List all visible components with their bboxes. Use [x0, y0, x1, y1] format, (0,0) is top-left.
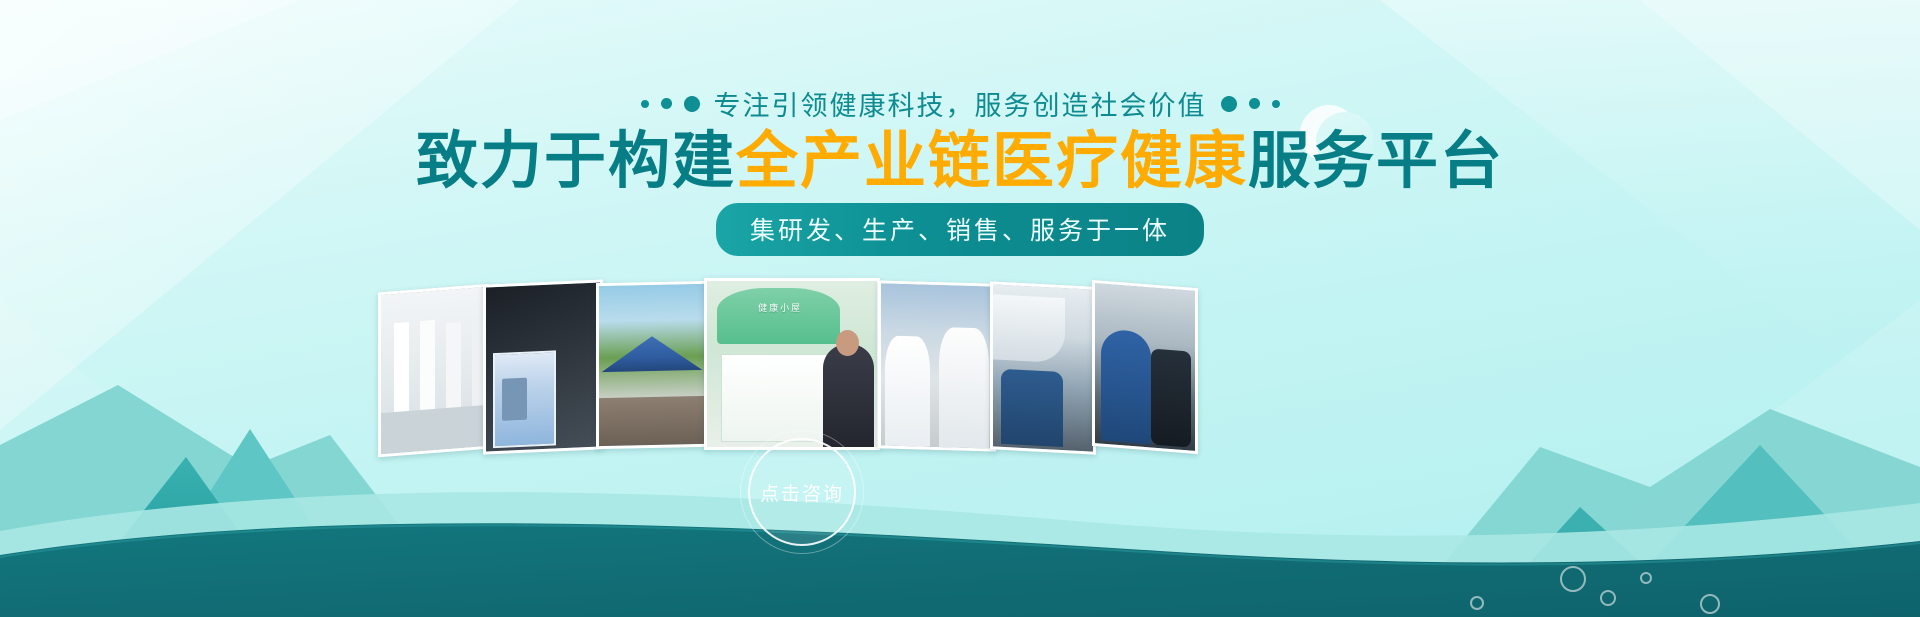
hero-banner: 专注引领健康科技，服务创造社会价值 致力于构建全产业链医疗健康服务平台 集研发、… [0, 0, 1920, 617]
dots-right [1221, 96, 1280, 112]
consult-button[interactable]: 点击咨询 [748, 438, 856, 546]
headline-part-2: 全产业链医疗健康 [736, 127, 1248, 196]
subtitle-pill-wrap: 集研发、生产、销售、服务于一体 [0, 203, 1920, 256]
dot-medium-icon [1249, 98, 1260, 109]
bubble-icon [1700, 594, 1720, 614]
dot-large-icon [1221, 96, 1237, 112]
tagline-text: 专注引领健康科技，服务创造社会价值 [714, 84, 1207, 123]
bubble-icon [1470, 596, 1484, 610]
dot-small-icon [1272, 100, 1280, 108]
bubble-icon [1640, 572, 1652, 584]
subtitle-pill: 集研发、生产、销售、服务于一体 [716, 203, 1204, 256]
headline-part-1: 致力于构建 [416, 127, 736, 196]
bubble-icon [1560, 566, 1586, 592]
bubble-icon [1600, 590, 1616, 606]
dot-medium-icon [661, 98, 672, 109]
dots-left [641, 96, 700, 112]
headline-part-3: 服务平台 [1248, 127, 1504, 196]
booth-sign-text: 健康小屋 [731, 301, 830, 314]
headline: 致力于构建全产业链医疗健康服务平台 [0, 126, 1920, 197]
dot-large-icon [684, 96, 700, 112]
bottom-mountains [0, 317, 1920, 617]
dot-small-icon [641, 100, 649, 108]
tagline-row: 专注引领健康科技，服务创造社会价值 [0, 84, 1920, 123]
